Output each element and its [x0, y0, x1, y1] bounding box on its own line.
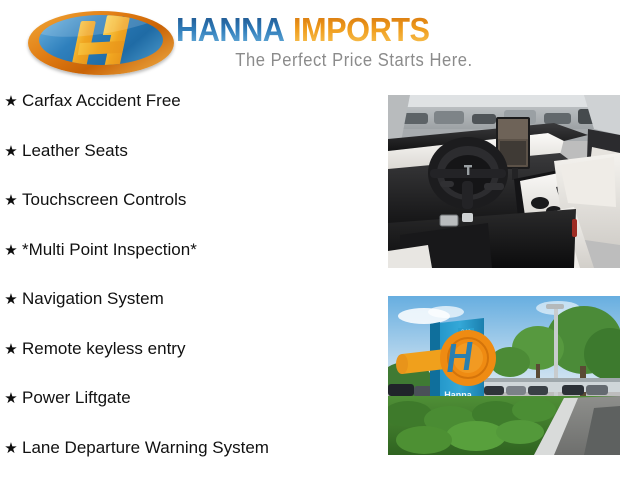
list-item: ★ Remote keyless entry [0, 340, 375, 390]
feature-label: Navigation System [22, 290, 164, 307]
list-item: ★ Navigation System [0, 290, 375, 340]
brand-name-line: HANNAIMPORTS [176, 12, 596, 48]
star-icon: ★ [0, 292, 22, 307]
list-item: ★ Carfax Accident Free [0, 92, 375, 142]
star-icon: ★ [0, 94, 22, 109]
feature-label: Remote keyless entry [22, 340, 185, 357]
brand-name-hanna: HANNA [176, 12, 285, 48]
feature-label: Touchscreen Controls [22, 191, 186, 208]
brand-wordmark: HANNAIMPORTS The Perfect Price Starts He… [176, 12, 596, 71]
list-item: ★ Leather Seats [0, 142, 375, 192]
feature-label: Power Liftgate [22, 389, 131, 406]
steering-wheel [428, 137, 508, 209]
header-banner: HANNAIMPORTS The Perfect Price Starts He… [0, 0, 640, 88]
hanna-oval-h-logo-icon [28, 8, 176, 78]
star-icon: ★ [0, 441, 22, 456]
star-icon: ★ [0, 342, 22, 357]
star-icon: ★ [0, 193, 22, 208]
vehicle-interior-photo [388, 95, 620, 268]
vehicle-interior-illustration [388, 95, 620, 268]
feature-label: Leather Seats [22, 142, 128, 159]
logo-disc [39, 15, 163, 65]
brand-name-imports: IMPORTS [293, 12, 430, 48]
dealership-sign-illustration: 240 Hanna Imports [388, 296, 620, 455]
feature-label: Lane Departure Warning System [22, 439, 269, 456]
list-item: ★ Touchscreen Controls [0, 191, 375, 241]
feature-label: *Multi Point Inspection* [22, 241, 197, 258]
list-item: ★ Power Liftgate [0, 389, 375, 439]
list-item: ★ *Multi Point Inspection* [0, 241, 375, 291]
star-icon: ★ [0, 243, 22, 258]
star-icon: ★ [0, 144, 22, 159]
vehicle-feature-list: ★ Carfax Accident Free ★ Leather Seats ★… [0, 92, 375, 488]
dealership-sign-photo: 240 Hanna Imports [388, 296, 620, 455]
logo-h-crossbar [78, 41, 124, 55]
list-item: ★ Lane Departure Warning System [0, 439, 375, 488]
star-icon: ★ [0, 391, 22, 406]
brand-tagline: The Perfect Price Starts Here. [207, 50, 501, 71]
feature-label: Carfax Accident Free [22, 92, 181, 109]
